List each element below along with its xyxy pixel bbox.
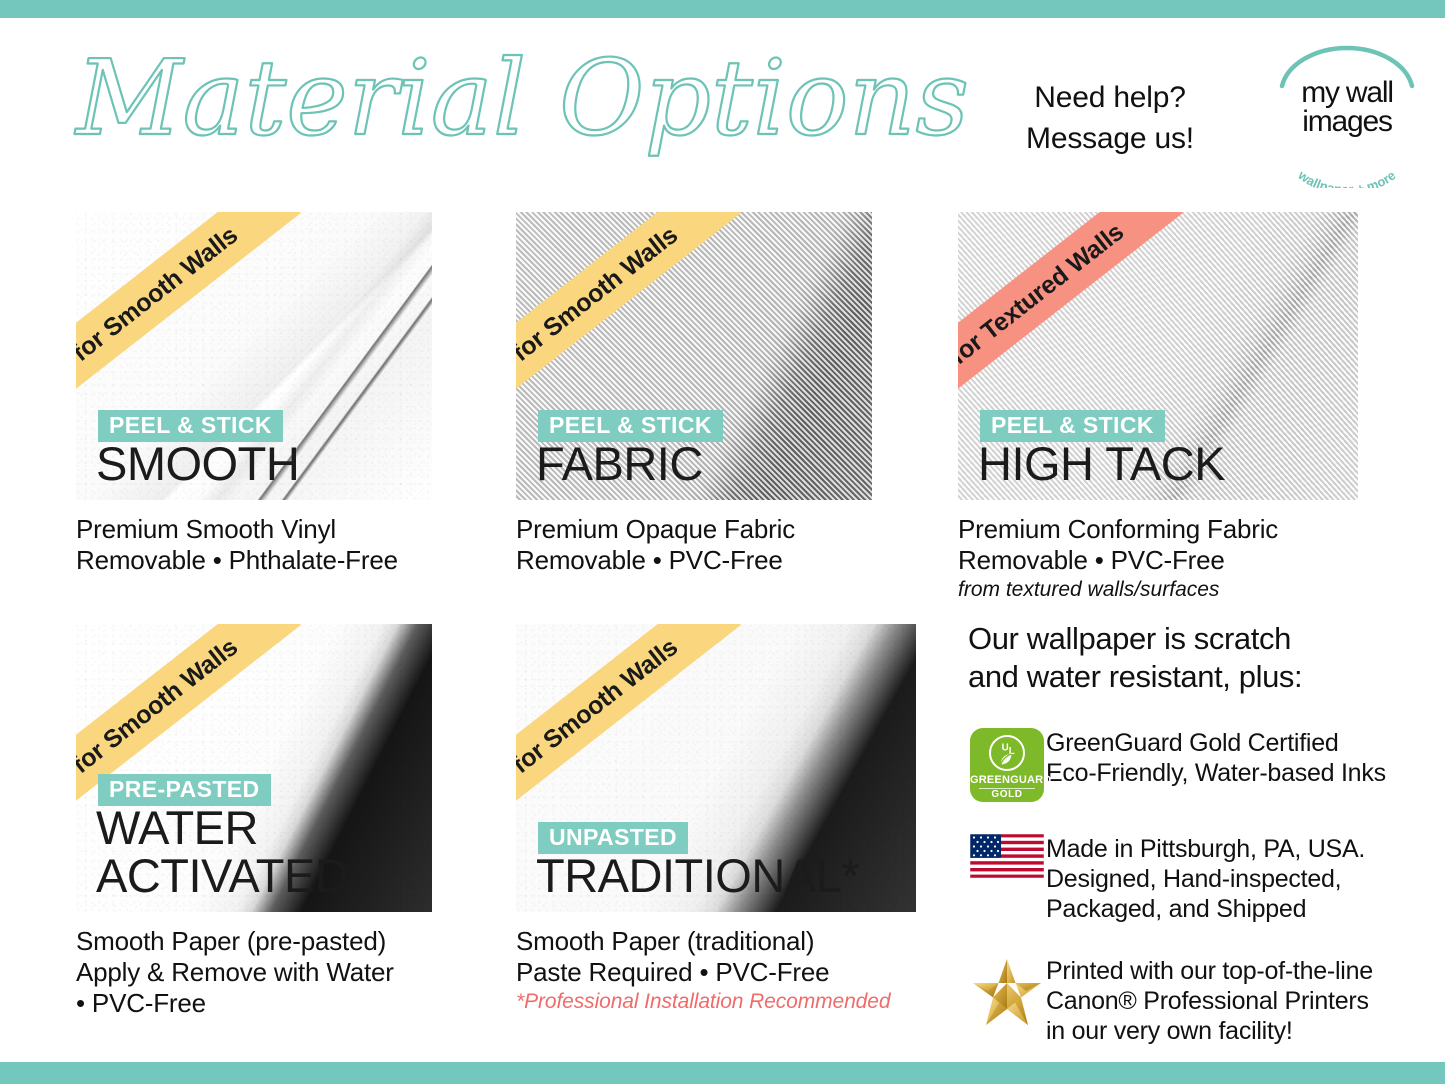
greenguard-gold-badge-icon: U L GREENGUARD GOLD [968,726,1046,802]
material-photo-high-tack: for Textured Walls PEEL & STICK HIGH TAC… [958,212,1358,500]
logo-tagline-text: wallpaper + more [1295,167,1399,188]
material-card-water-activated[interactable]: for Smooth Walls PRE-PASTED WATER ACTIVA… [76,624,432,1019]
feature-made-in-usa: Made in Pittsburgh, PA, USA. Designed, H… [968,832,1388,924]
material-name: WATER ACTIVATED [96,804,348,900]
leaf-icon [1001,754,1012,765]
page-title: Material Options [72,46,712,166]
material-name: SMOOTH [96,440,299,488]
ul-mark-u: U [1002,742,1009,753]
material-description: Premium Conforming Fabric Removable • PV… [958,514,1358,576]
material-description: Smooth Paper (pre-pasted) Apply & Remove… [76,926,432,1019]
logo-line-1: my wall [1272,78,1422,107]
logo-wordmark: my wall images [1272,78,1422,137]
material-note: *Professional Installation Recommended [516,989,916,1014]
svg-text:wallpaper + more: wallpaper + more [1295,167,1399,188]
gold-star-icon [968,954,1046,1028]
material-description: Premium Smooth Vinyl Removable • Phthala… [76,514,432,576]
material-name: TRADITIONAL* [536,852,859,900]
logo-line-2: images [1272,107,1422,136]
need-help-block: Need help? Message us! [960,78,1260,160]
logo-tagline: wallpaper + more [1272,148,1422,188]
material-photo-water-activated: for Smooth Walls PRE-PASTED WATER ACTIVA… [76,624,432,912]
usa-flag-icon [968,832,1046,878]
features-heading: Our wallpaper is scratch and water resis… [968,620,1388,696]
material-card-traditional[interactable]: for Smooth Walls UNPASTED TRADITIONAL* S… [516,624,916,1014]
top-accent-band [0,0,1445,18]
material-photo-smooth: for Smooth Walls PEEL & STICK SMOOTH [76,212,432,500]
brand-logo: my wall images wallpaper + more [1272,40,1422,170]
material-photo-fabric: for Smooth Walls PEEL & STICK FABRIC [516,212,872,500]
need-help-line2: Message us! [960,119,1260,160]
material-name: HIGH TACK [978,440,1225,488]
greenguard-badge-name: GREENGUARD [970,774,1044,786]
material-name: FABRIC [536,440,703,488]
feature-greenguard: U L GREENGUARD GOLD GreenGuard Gold Cert… [968,726,1388,802]
feature-text: Printed with our top-of-the-line Canon® … [1046,954,1373,1046]
feature-text: GreenGuard Gold Certified Eco-Friendly, … [1046,726,1386,788]
material-card-smooth[interactable]: for Smooth Walls PEEL & STICK SMOOTH Pre… [76,212,432,576]
feature-text: Made in Pittsburgh, PA, USA. Designed, H… [1046,832,1365,924]
page-title-text: Material Options [74,37,969,159]
material-description: Premium Opaque Fabric Removable • PVC-Fr… [516,514,872,576]
features-panel: Our wallpaper is scratch and water resis… [968,620,1388,1046]
material-options-infographic: Material Options Need help? Message us! … [0,0,1445,1084]
feature-canon-printers: Printed with our top-of-the-line Canon® … [968,954,1388,1046]
material-photo-traditional: for Smooth Walls UNPASTED TRADITIONAL* [516,624,916,912]
greenguard-badge-level: GOLD [970,789,1044,800]
need-help-line1: Need help? [960,78,1260,119]
material-card-high-tack[interactable]: for Textured Walls PEEL & STICK HIGH TAC… [958,212,1358,602]
bottom-accent-band [0,1062,1445,1084]
material-card-fabric[interactable]: for Smooth Walls PEEL & STICK FABRIC Pre… [516,212,872,576]
material-description: Smooth Paper (traditional) Paste Require… [516,926,916,988]
material-note: from textured walls/surfaces [958,577,1358,602]
